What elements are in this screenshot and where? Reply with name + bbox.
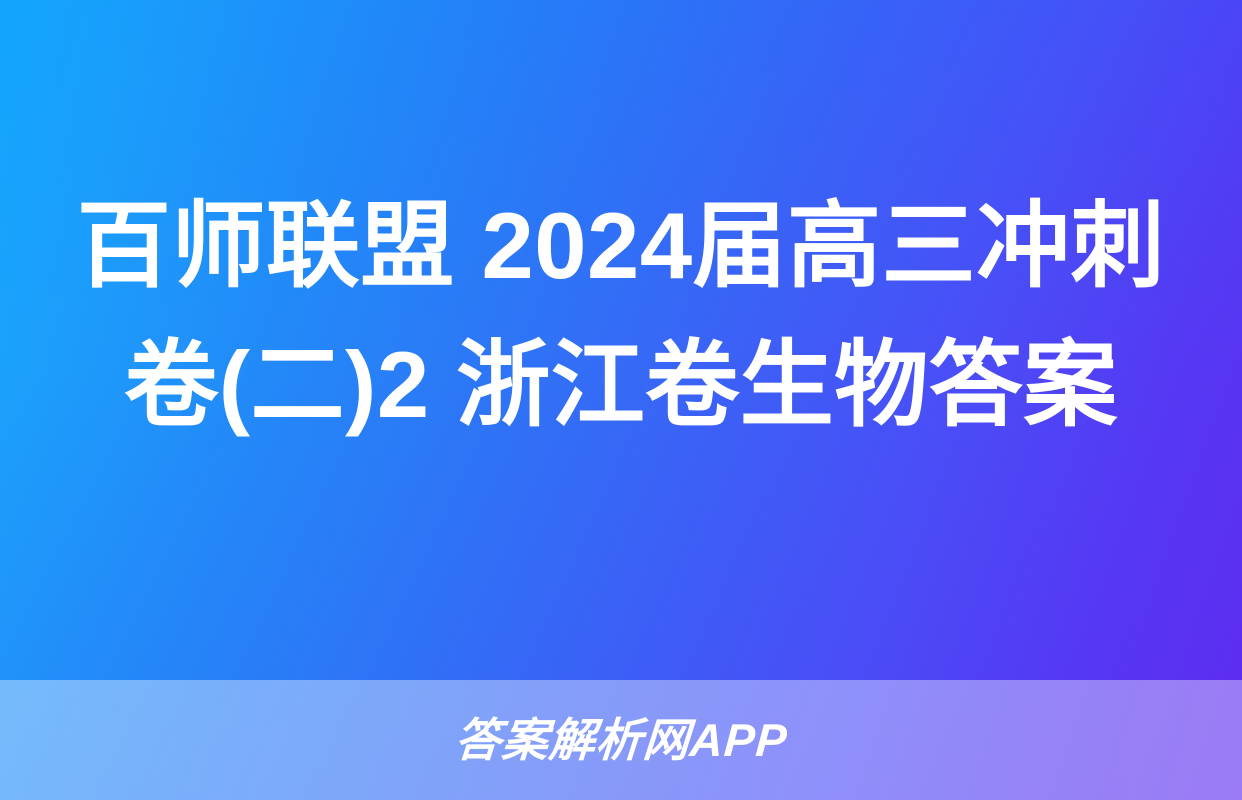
share-card: 百师联盟 2024届高三冲刺卷(二)2 浙江卷生物答案 答案解析网APP [0,0,1242,800]
page-title-text: 百师联盟 2024届高三冲刺卷(二)2 浙江卷生物答案 [64,176,1178,454]
page-title: 百师联盟 2024届高三冲刺卷(二)2 浙江卷生物答案 [0,176,1242,454]
watermark-band: 答案解析网APP [0,680,1242,800]
watermark-brand-label: 答案解析网APP [453,717,789,763]
